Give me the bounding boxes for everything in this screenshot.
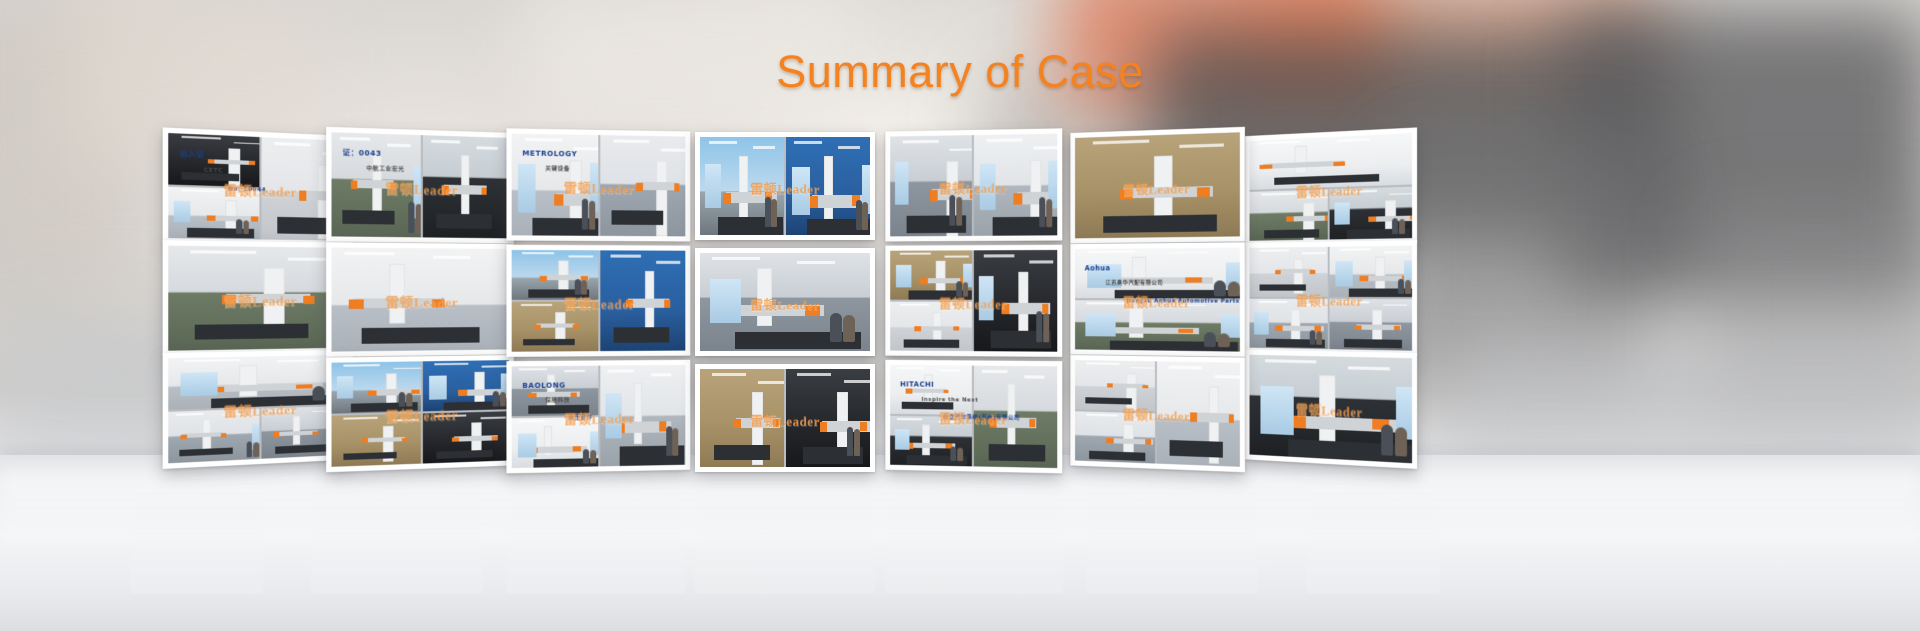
case-photo-card-plant-exterior-and-blue-measuring-rooms[interactable]: 雷顿Leader [326, 355, 514, 472]
photo-detail [773, 419, 779, 427]
photo-scene-wheel-part-on-table [974, 250, 1057, 352]
photo-detail [930, 190, 938, 200]
photo-person [500, 392, 506, 406]
photo-scene-cmm-column [600, 250, 685, 351]
photo-person [843, 315, 855, 342]
photo-detail [184, 359, 240, 362]
photo-detail [1107, 438, 1114, 443]
case-photo-collage: 雷顿Leader [168, 246, 348, 351]
photo-detail [895, 162, 909, 205]
photo-scene-plant-exterior [332, 361, 421, 413]
photo-detail [181, 189, 218, 192]
photo-detail [739, 156, 748, 221]
photo-detail [1169, 366, 1203, 370]
photo-detail [1143, 385, 1148, 389]
photo-detail [820, 422, 828, 432]
gallery-cell: 证：0043中航工业宏光雷顿Leader [326, 127, 514, 244]
photo-detail [368, 390, 377, 396]
case-photo-collage: HITACHIInspire the Next日立汽车系统(苏州)有限公司雷顿L… [890, 365, 1057, 468]
photo-person [1405, 280, 1411, 294]
photo-person [1215, 281, 1227, 296]
photo-detail [1109, 383, 1146, 388]
photo-detail [1261, 385, 1294, 434]
case-photo-pane [890, 302, 972, 351]
photo-person [1316, 331, 1322, 345]
photo-detail [915, 326, 922, 331]
case-photo-pane [423, 411, 509, 463]
photo-detail [1302, 252, 1326, 254]
photo-detail [233, 142, 259, 145]
photo-detail [1337, 139, 1370, 142]
photo-detail [712, 373, 746, 376]
photo-detail [273, 432, 280, 437]
gallery-grid: 出入证CETCNo. 10044雷顿Leader证：0043中航工业宏光雷顿Le… [130, 132, 1440, 472]
case-photo-pane [1157, 361, 1240, 466]
gallery-wall-inner: 出入证CETCNo. 10044雷顿Leader证：0043中航工业宏光雷顿Le… [130, 132, 1440, 472]
photo-scene-cmm-demo-visitors [168, 246, 348, 351]
photo-detail [1170, 440, 1223, 457]
photo-detail [518, 433, 536, 457]
photo-detail [651, 374, 671, 377]
photo-scene-aohua-company-wall [1075, 247, 1240, 298]
photo-detail [723, 193, 731, 204]
case-photo-collage: METROLOGY关键设备雷顿Leader [511, 134, 685, 237]
photo-person [590, 450, 596, 464]
photo-detail [482, 366, 508, 368]
photo-person [847, 427, 853, 456]
photo-detail [534, 324, 540, 328]
photo-detail [1259, 164, 1272, 169]
photo-scene-team-photo [1075, 411, 1155, 463]
photo-detail [337, 376, 354, 399]
photo-detail [1004, 303, 1051, 314]
photo-detail [1384, 251, 1408, 253]
case-photo-pane [511, 417, 598, 468]
gallery-cell: 雷顿Leader [885, 128, 1062, 241]
photo-signage-text: HITACHI [900, 381, 934, 389]
photo-detail [1275, 270, 1281, 274]
photo-detail [940, 370, 960, 372]
case-photo-card-lab-staff-and-exhaust-manifold-parts[interactable]: 雷顿Leader [506, 245, 690, 357]
photo-person [253, 443, 259, 457]
case-photo-pane [511, 302, 598, 352]
case-photo-pane [1249, 247, 1327, 297]
case-photo-pane [511, 366, 598, 417]
photo-detail [1286, 217, 1293, 222]
photo-detail [1087, 362, 1120, 364]
case-photo-card-baolong-car-body-inspection[interactable]: BAOLONG保隆科技液压管件雷顿Leader [506, 360, 690, 474]
case-photo-collage: 雷顿Leader [1249, 133, 1412, 241]
photo-detail [949, 148, 972, 151]
photo-detail [980, 164, 996, 211]
photo-scene-office-tower-photo [168, 133, 259, 187]
photo-person [406, 393, 412, 407]
case-photo-card-gantry-cmm-in-measuring-room[interactable]: 雷顿Leader [326, 242, 514, 357]
photo-detail [919, 278, 927, 283]
photo-signage-text: No. 10044 [228, 187, 266, 194]
case-photo-card-four-cmm-machines-montage[interactable]: 雷顿Leader [1245, 240, 1417, 356]
photo-detail [364, 437, 405, 443]
photo-scene-engineer-beside-cmm [423, 135, 509, 238]
photo-detail [1348, 366, 1390, 370]
case-photo-pane [168, 355, 348, 410]
case-photo-pane [1249, 133, 1412, 190]
photo-scene-cmm-c [1249, 299, 1327, 349]
photo-detail [1107, 383, 1113, 387]
photo-signage-text: 证：0043 [343, 149, 382, 157]
photo-detail [1289, 215, 1328, 221]
photo-signage-text: 日立汽车系统(苏州)有限公司 [943, 416, 1020, 423]
photo-detail [536, 324, 575, 328]
photo-detail [303, 296, 315, 304]
case-photo-collage: 雷顿Leader [700, 253, 870, 351]
photo-detail [180, 434, 187, 438]
case-photo-pane [1075, 132, 1240, 238]
photo-detail [249, 161, 255, 165]
photo-person [415, 204, 421, 233]
case-photo-collage: 雷顿Leader [700, 137, 870, 235]
photo-signage-text: 江苏奥华汽配有限公司 [1106, 282, 1164, 288]
photo-detail [296, 384, 312, 389]
photo-detail [904, 340, 959, 348]
case-photo-card-handover-to-customer-beside-cmm[interactable]: 雷顿Leader [1245, 350, 1417, 469]
case-photo-pane [600, 135, 685, 236]
photo-detail [860, 422, 867, 431]
photo-detail [190, 250, 256, 254]
case-photo-pane [168, 133, 259, 187]
case-photo-card-cmm-demo-with-two-visitors[interactable]: 雷顿Leader [163, 240, 354, 356]
photo-detail [735, 332, 861, 350]
photo-detail [705, 164, 721, 208]
case-photo-collage: 雷顿Leader [1249, 246, 1412, 351]
photo-detail [435, 363, 469, 365]
photo-detail [574, 147, 598, 150]
photo-person [1228, 282, 1240, 296]
case-photo-pane [786, 137, 870, 235]
case-photo-collage: 雷顿Leader [1075, 360, 1240, 467]
case-photo-collage: 雷顿Leader [1249, 355, 1412, 464]
photo-detail [970, 190, 972, 199]
photo-detail [906, 389, 912, 393]
photo-detail [481, 417, 506, 419]
photo-scene-car-body-on-fixture [511, 417, 598, 468]
photo-detail [232, 194, 259, 196]
gallery-cell: 雷顿Leader [695, 364, 875, 472]
photo-detail [222, 413, 243, 415]
photo-detail [903, 140, 938, 144]
photo-detail [984, 254, 1015, 258]
case-photo-card-workshop-cabinet-row-with-technician[interactable]: 雷顿Leader [1071, 127, 1246, 244]
photo-detail [710, 279, 741, 322]
photo-detail [1410, 215, 1412, 220]
photo-detail [753, 146, 775, 149]
photo-detail [528, 405, 589, 414]
gallery-cell: 雷顿Leader [506, 245, 690, 357]
photo-detail [627, 298, 669, 307]
photo-detail [1288, 439, 1413, 463]
photo-detail [412, 389, 420, 394]
photo-detail [525, 138, 562, 142]
photo-detail [712, 257, 760, 260]
photo-scene-cmm-granite-table-fixtures [168, 187, 259, 240]
photo-detail [402, 438, 408, 442]
photo-detail [569, 255, 594, 257]
photo-detail [1259, 301, 1288, 303]
photo-detail [1254, 312, 1268, 334]
gallery-cell: BAOLONG保隆科技液压管件雷顿Leader [506, 360, 690, 474]
case-photo-card-hitachi-automotive-opening-ceremony[interactable]: HITACHIInspire the Next日立汽车系统(苏州)有限公司雷顿L… [885, 360, 1062, 474]
photo-person [862, 202, 868, 229]
photo-detail [709, 141, 738, 144]
photo-detail [1104, 214, 1218, 232]
photo-detail [922, 425, 930, 455]
photo-detail [1131, 367, 1155, 369]
photo-scene-workshop-jib-crane [700, 253, 870, 351]
photo-detail [195, 324, 308, 340]
photo-detail [1029, 419, 1035, 428]
photo-signage-text: 关键设备 [545, 168, 570, 174]
photo-detail [607, 369, 633, 373]
photo-scene-lab-corridor [1157, 361, 1240, 466]
photo-detail [797, 373, 831, 376]
photo-detail [987, 138, 1023, 142]
photo-detail [1388, 193, 1412, 195]
photo-detail [979, 276, 994, 320]
photo-person [1399, 219, 1405, 233]
photo-detail [351, 180, 357, 189]
case-photo-pane [700, 137, 784, 235]
photo-detail [613, 327, 668, 342]
case-photo-pane [600, 250, 685, 351]
photo-detail [636, 183, 642, 192]
case-photo-collage: 出入证CETCNo. 10044雷顿Leader [168, 133, 348, 241]
gallery-cell: METROLOGY关键设备雷顿Leader [506, 128, 690, 241]
photo-detail [1277, 269, 1312, 273]
photo-detail [944, 307, 967, 309]
case-photo-card-aohua-automotive-parts-gate-and-clean-room[interactable]: Aohua江苏奥华汽配有限公司Jiangsu Aohua Automotive … [1071, 242, 1246, 357]
photo-signage-text: BAOLONG [522, 382, 565, 390]
photo-person [665, 426, 671, 456]
photo-scene-two-staff-portrait [168, 409, 259, 464]
case-photo-pane [511, 250, 598, 300]
photo-detail [1259, 249, 1289, 251]
case-photo-pane [974, 250, 1057, 352]
photo-detail [521, 304, 552, 306]
case-photo-card-cmm-installation-with-operator[interactable]: 雷顿Leader [885, 128, 1062, 241]
photo-detail [805, 306, 819, 315]
case-photo-collage: 雷顿Leader [332, 360, 510, 467]
photo-detail [437, 450, 493, 459]
photo-detail [1306, 196, 1328, 198]
case-photo-card-inspection-room-two-views[interactable]: 雷顿Leader [695, 132, 875, 240]
case-photo-card-metrology-lab-key-equipment[interactable]: METROLOGY关键设备雷顿Leader [506, 128, 690, 241]
case-photo-pane [1075, 300, 1240, 351]
case-photo-card-factory-exterior-and-handshake[interactable]: 雷顿Leader [1245, 127, 1417, 246]
photo-scene-handover-ceremony [1249, 355, 1412, 464]
photo-scene-window-wall-cmm [423, 411, 509, 463]
photo-detail [275, 444, 330, 454]
photo-detail [268, 409, 293, 412]
photo-detail [564, 370, 585, 372]
photo-person [963, 283, 969, 297]
photo-detail [611, 211, 662, 225]
photo-person [1043, 313, 1049, 341]
case-photo-card-campus-building-and-brake-disc-measuring[interactable]: 雷顿Leader [885, 245, 1062, 357]
photo-detail [1048, 160, 1057, 208]
case-photo-card-quality-lab-overview-and-team[interactable]: 雷顿Leader [1071, 355, 1246, 472]
photo-detail [522, 339, 574, 346]
photo-detail [434, 414, 467, 417]
photo-detail [1318, 375, 1335, 441]
photo-detail [1017, 191, 1058, 204]
photo-detail [993, 217, 1058, 236]
photo-person [672, 428, 678, 456]
photo-detail [1274, 174, 1379, 185]
photo-scene-baolong-sign-wall [511, 366, 598, 417]
photo-detail [838, 146, 860, 149]
photo-detail [1090, 450, 1146, 460]
photo-signage-text: METROLOGY [522, 150, 577, 158]
photo-detail [824, 156, 833, 220]
photo-detail [481, 187, 487, 195]
photo-detail [1275, 326, 1282, 331]
photo-scene-cmm-b [1329, 246, 1412, 297]
photo-detail [553, 194, 562, 206]
photo-scene-blue-key-equipment-sign [600, 135, 685, 236]
photo-signage-text: 保隆科技 [545, 399, 570, 405]
case-photo-pane [1075, 247, 1240, 298]
photo-detail [434, 256, 471, 259]
photo-detail [1215, 375, 1241, 379]
photo-detail [277, 359, 318, 361]
photo-detail [1333, 162, 1345, 167]
photo-scene-measuring-plate [890, 302, 972, 351]
photo-detail [313, 431, 319, 435]
photo-detail [1301, 304, 1324, 306]
photo-detail [176, 413, 204, 416]
photo-detail [522, 252, 554, 254]
photo-person [1040, 197, 1046, 228]
photo-scene-workshop-cabinets [1075, 132, 1240, 238]
photo-detail [734, 419, 741, 428]
photo-scene-large-cmm-red-table [890, 135, 972, 236]
photo-person [765, 197, 771, 226]
photo-detail [452, 437, 459, 442]
case-photo-pane [423, 135, 509, 238]
photo-detail [532, 218, 598, 236]
photo-detail [794, 141, 822, 144]
photo-person [589, 201, 595, 229]
photo-person [957, 447, 963, 461]
photo-detail [343, 417, 378, 420]
photo-detail [251, 216, 258, 221]
photo-person [1392, 218, 1398, 233]
photo-detail [344, 364, 380, 366]
photo-detail [1056, 192, 1057, 202]
photo-person [583, 449, 589, 464]
case-photo-collage: 雷顿Leader [1075, 132, 1240, 238]
photo-detail [182, 433, 223, 439]
photo-detail [362, 327, 480, 344]
case-photo-card-steel-structure-plant-and-white-cmm[interactable]: 雷顿Leader [695, 364, 875, 472]
photo-detail [277, 217, 336, 234]
photo-detail [519, 368, 546, 370]
photo-detail [638, 182, 677, 191]
gallery-cell: 雷顿Leader [1245, 240, 1417, 356]
photo-detail [1085, 314, 1116, 337]
photo-detail [179, 447, 232, 456]
case-photo-collage: 证：0043中航工业宏光雷顿Leader [332, 132, 510, 238]
photo-scene-cmm-machine-orange [423, 360, 509, 411]
photo-detail [674, 184, 679, 191]
photo-detail [1029, 261, 1053, 264]
photo-detail [714, 445, 770, 460]
photo-person [956, 197, 962, 225]
case-photo-pane [1329, 246, 1412, 297]
photo-detail [953, 327, 959, 331]
case-photo-pane [423, 360, 509, 411]
photo-scene-operator-in-red-shirt [974, 134, 1057, 236]
photo-detail [1088, 250, 1135, 252]
photo-detail [528, 393, 536, 398]
photo-person [856, 200, 862, 229]
photo-signage-text: 液压管件 [568, 416, 593, 422]
photo-person [854, 429, 860, 456]
photo-detail [895, 429, 910, 450]
case-photo-pane [168, 246, 348, 351]
photo-detail [539, 276, 547, 281]
case-photo-collage: 雷顿Leader [700, 369, 870, 467]
gallery-cell: Aohua江苏奥华汽配有限公司Jiangsu Aohua Automotive … [1071, 242, 1246, 357]
photo-scene-cmm-d [1329, 299, 1412, 351]
photo-signage-text: 出入证 [180, 150, 205, 158]
photo-detail [1259, 284, 1306, 291]
photo-detail [433, 299, 446, 307]
photo-detail [173, 200, 190, 222]
gallery-cell: 雷顿Leader [326, 355, 514, 472]
photo-detail [343, 210, 395, 224]
photo-detail [429, 376, 447, 400]
case-photo-pane [786, 369, 870, 467]
case-photo-card-aluminium-casting-on-glass-and-staff-portrait[interactable]: 雷顿Leader [163, 350, 354, 469]
photo-detail [758, 381, 784, 384]
photo-person [1398, 279, 1404, 294]
photo-detail [182, 136, 221, 139]
photo-detail [354, 298, 444, 308]
photo-detail [659, 421, 666, 431]
photo-detail [1383, 304, 1407, 306]
case-photo-collage: 雷顿Leader [511, 250, 685, 352]
photo-person [830, 313, 842, 342]
photo-person [582, 199, 588, 229]
case-photo-card-workshop-with-yellow-jib-crane[interactable]: 雷顿Leader [695, 248, 875, 356]
photo-detail [1354, 325, 1361, 330]
photo-detail [573, 325, 578, 329]
case-photo-pane [600, 365, 685, 466]
case-photo-card-avic-honguang-certificate-and-engineer[interactable]: 证：0043中航工业宏光雷顿Leader [326, 127, 514, 244]
photo-detail [1259, 140, 1300, 144]
gallery-cell: 雷顿Leader [163, 240, 354, 356]
case-photo-pane [1249, 189, 1327, 240]
case-photo-card-cmm-office-building-and-badge[interactable]: 出入证CETCNo. 10044雷顿Leader [163, 127, 354, 246]
photo-detail [943, 389, 949, 393]
photo-person [1309, 330, 1315, 345]
photo-detail [656, 261, 680, 264]
photo-person [1218, 333, 1230, 347]
photo-detail [518, 164, 536, 212]
photo-detail [656, 161, 667, 237]
photo-detail [1334, 203, 1349, 226]
